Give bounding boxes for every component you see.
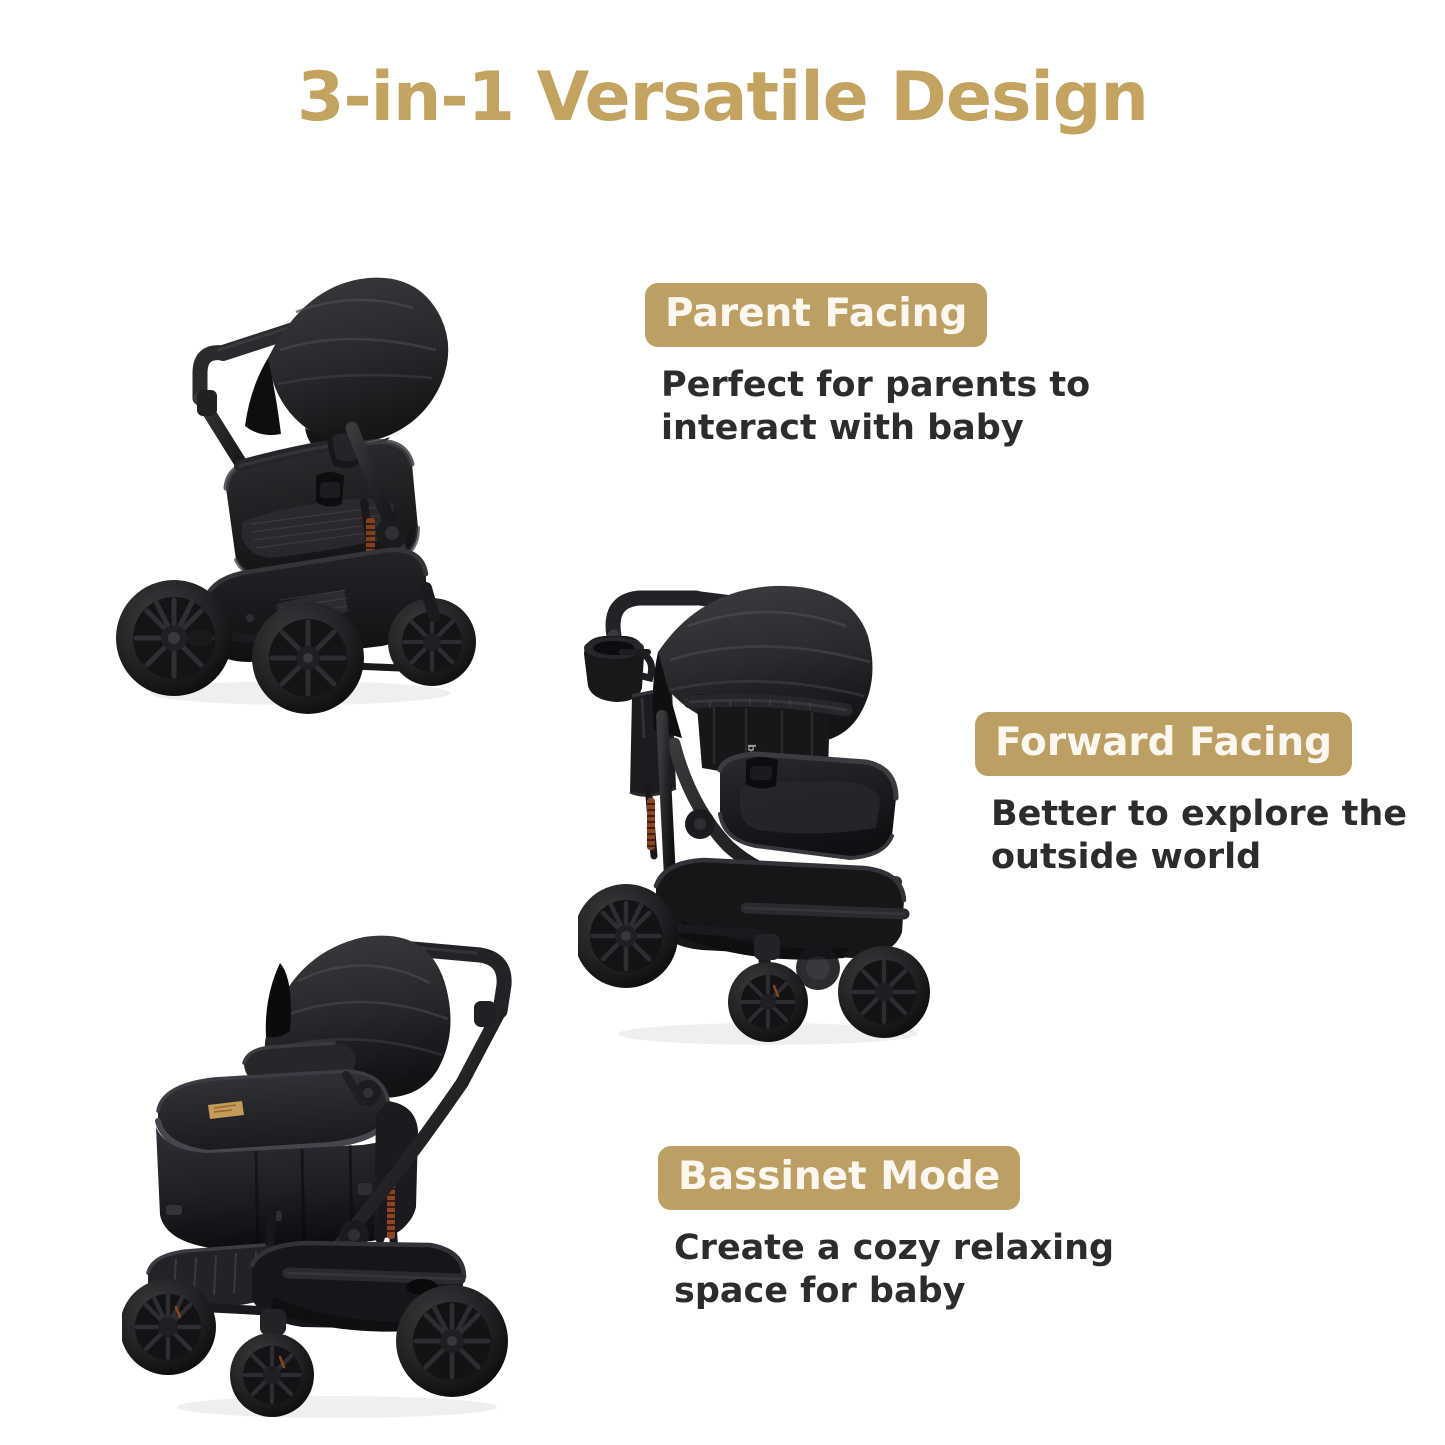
- page-title: 3-in-1 Versatile Design: [0, 58, 1445, 137]
- infographic-page: 3-in-1 Versatile Design: [0, 0, 1445, 1445]
- description-forward-facing: Better to explore the outside world: [975, 793, 1407, 878]
- badge-bassinet-mode: Bassinet Mode: [658, 1146, 1020, 1210]
- description-parent-facing: Perfect for parents to interact with bab…: [645, 364, 1090, 449]
- description-bassinet-mode: Create a cozy relaxing space for baby: [658, 1227, 1114, 1312]
- feature-parent-facing: Parent Facing Perfect for parents to int…: [645, 283, 1090, 449]
- stroller-image-bassinet-mode: [122, 915, 532, 1427]
- badge-parent-facing: Parent Facing: [645, 283, 987, 347]
- stroller-image-parent-facing: [100, 238, 490, 718]
- stroller-image-forward-facing: baby joy: [578, 556, 950, 1056]
- feature-bassinet-mode: Bassinet Mode Create a cozy relaxing spa…: [658, 1146, 1114, 1312]
- feature-forward-facing: Forward Facing Better to explore the out…: [975, 712, 1407, 878]
- badge-forward-facing: Forward Facing: [975, 712, 1352, 776]
